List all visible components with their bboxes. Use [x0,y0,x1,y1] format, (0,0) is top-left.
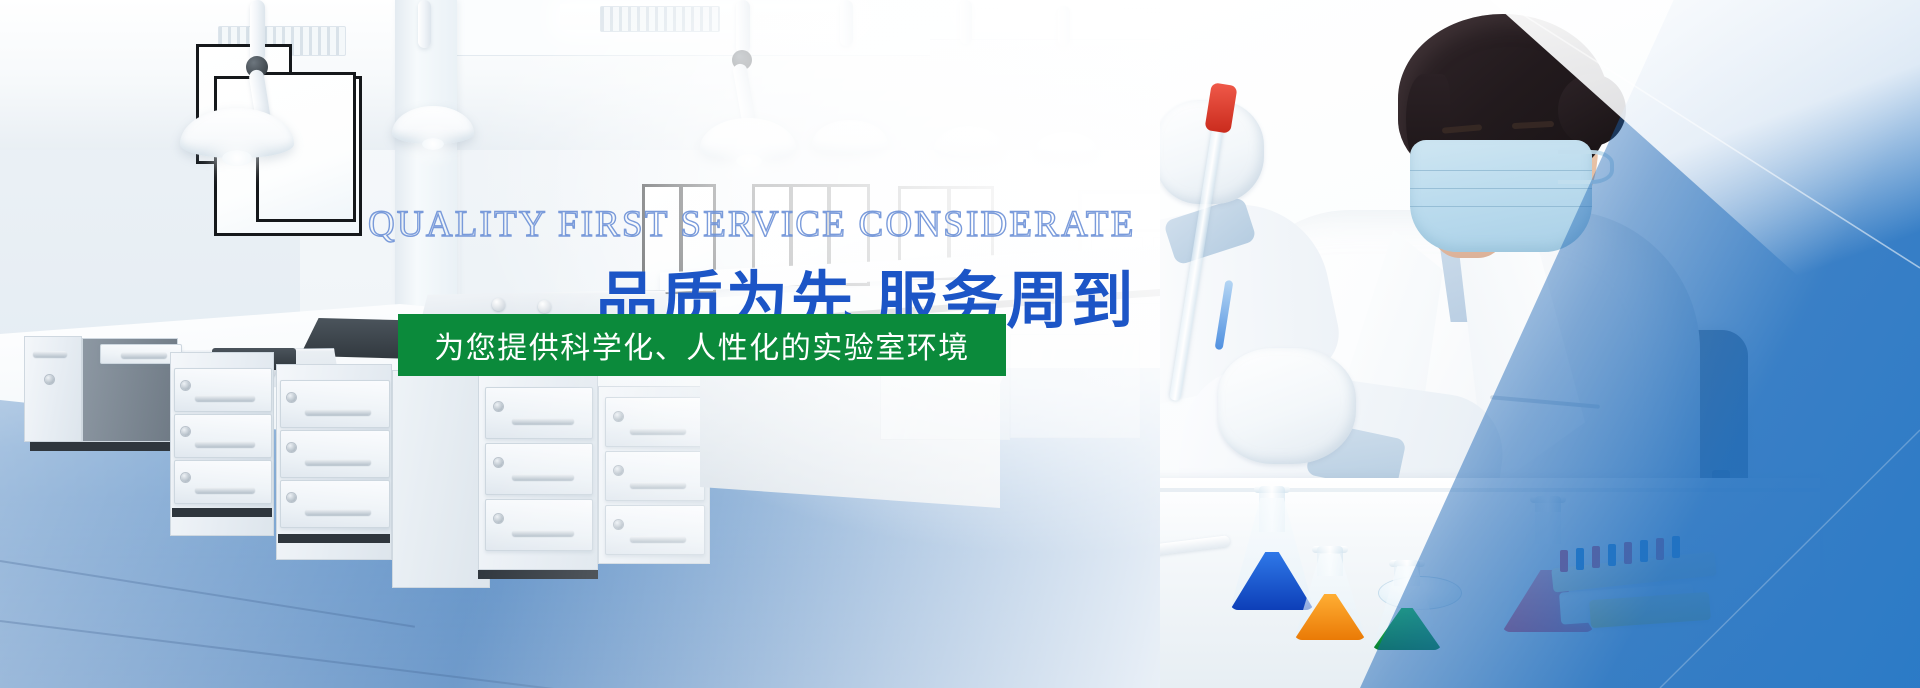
glove-lower-hand [1218,348,1356,464]
service-knob [538,300,551,313]
drawer [174,460,272,504]
fume-arm [840,0,853,46]
ceiling-vent [600,6,720,32]
cabinet [1010,334,1140,438]
cabinet [880,330,1010,440]
fume-arm [960,0,972,44]
fume-arm [736,0,750,54]
flask-orange [1294,546,1366,640]
cabinet-kickplate [172,508,272,517]
hair-bun [1558,74,1626,146]
cabinet-kickplate [30,442,190,451]
drawer [174,414,272,458]
cabinet [478,374,598,570]
lamp-bulb [736,154,762,168]
cabinet [598,386,710,564]
hero-banner: QUALITY FIRST SERVICE CONSIDERATE 品质为先 服… [0,0,1920,688]
drawer [280,380,390,428]
researcher-pipetting-photo [1160,0,1920,688]
fume-arm [1058,6,1070,46]
drawer [174,368,272,412]
cabinet-side-panel [392,370,490,588]
mask-ear-strap [1558,150,1614,184]
service-knob [492,298,505,311]
fume-arm [250,0,265,62]
cabinet-kickplate [278,534,390,543]
drawer [280,480,390,528]
cabinet-kickplate [478,570,598,579]
flask-green [1372,560,1442,650]
fume-arm [418,0,431,48]
lamp-bulb [422,138,444,150]
lamp-bulb [222,150,252,166]
drawer [280,430,390,478]
cabinet [24,336,82,442]
structural-pillar [395,0,457,330]
